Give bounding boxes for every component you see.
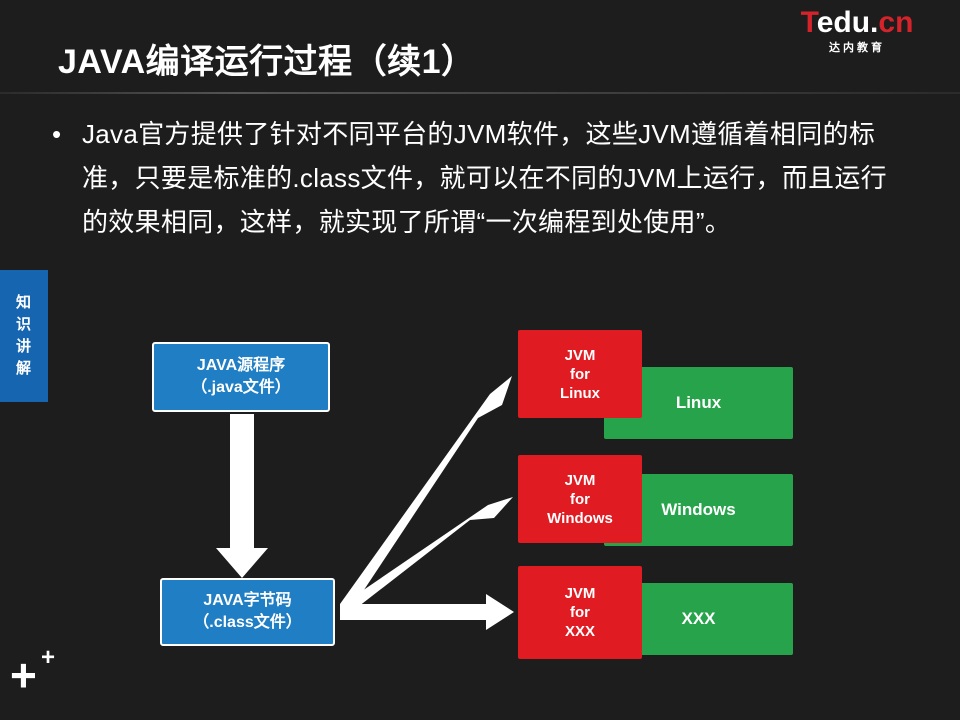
section-tab-char-4: 解	[16, 358, 32, 380]
arrow-bytecode-to-jvm-linux	[340, 376, 512, 614]
node-jvm-windows-line1: JVM	[565, 471, 596, 490]
node-source-line2: （.java文件）	[191, 377, 291, 399]
arrow-bytecode-to-jvm-xxx	[340, 594, 514, 630]
node-bytecode-line1: JAVA字节码	[203, 590, 291, 612]
logo-wordmark: Tedu.cn	[772, 8, 942, 38]
section-tab-knowledge: 知 识 讲 解	[0, 270, 48, 402]
arrow-source-to-bytecode	[216, 414, 268, 578]
node-jvm-linux-line1: JVM	[565, 346, 596, 365]
title-divider	[0, 92, 960, 94]
node-bytecode-line2: （.class文件）	[193, 612, 302, 634]
node-os-xxx-label: XXX	[681, 609, 715, 629]
logo-letters-cn: cn	[878, 6, 913, 39]
bullet-paragraph: • Java官方提供了针对不同平台的JVM软件，这些JVM遵循着相同的标准，只要…	[52, 112, 892, 244]
logo-subtitle: 达内教育	[772, 39, 942, 55]
logo-letter-t: T	[801, 6, 817, 39]
diagram-node-jvm-windows: JVM for Windows	[518, 455, 642, 543]
node-source-line1: JAVA源程序	[197, 355, 285, 377]
node-os-linux-label: Linux	[676, 393, 721, 413]
plus-decoration-large: +	[10, 652, 37, 698]
node-jvm-xxx-line2: for	[570, 603, 590, 622]
diagram-node-java-bytecode: JAVA字节码 （.class文件）	[160, 578, 335, 646]
bullet-text: Java官方提供了针对不同平台的JVM软件，这些JVM遵循着相同的标准，只要是标…	[82, 112, 892, 244]
node-jvm-windows-line3: Windows	[547, 509, 613, 528]
section-tab-char-1: 知	[16, 292, 32, 314]
brand-logo: Tedu.cn 达内教育	[772, 8, 942, 55]
diagram-arrows	[0, 0, 960, 720]
logo-letters-edu: edu	[817, 6, 870, 39]
node-jvm-xxx-line3: XXX	[565, 622, 595, 641]
page-title: JAVA编译运行过程（续1）	[58, 34, 476, 83]
diagram-node-jvm-linux: JVM for Linux	[518, 330, 642, 418]
section-tab-char-3: 讲	[16, 336, 32, 358]
node-jvm-xxx-line1: JVM	[565, 584, 596, 603]
plus-decoration-small: +	[41, 646, 55, 670]
diagram-node-java-source: JAVA源程序 （.java文件）	[152, 342, 330, 412]
node-jvm-linux-line2: for	[570, 365, 590, 384]
section-tab-char-2: 识	[16, 314, 32, 336]
node-os-windows-label: Windows	[661, 500, 735, 520]
arrow-bytecode-to-jvm-windows	[340, 497, 513, 617]
diagram-node-jvm-xxx: JVM for XXX	[518, 566, 642, 659]
node-jvm-windows-line2: for	[570, 490, 590, 509]
node-jvm-linux-line3: Linux	[560, 384, 600, 403]
bullet-marker: •	[52, 112, 82, 244]
